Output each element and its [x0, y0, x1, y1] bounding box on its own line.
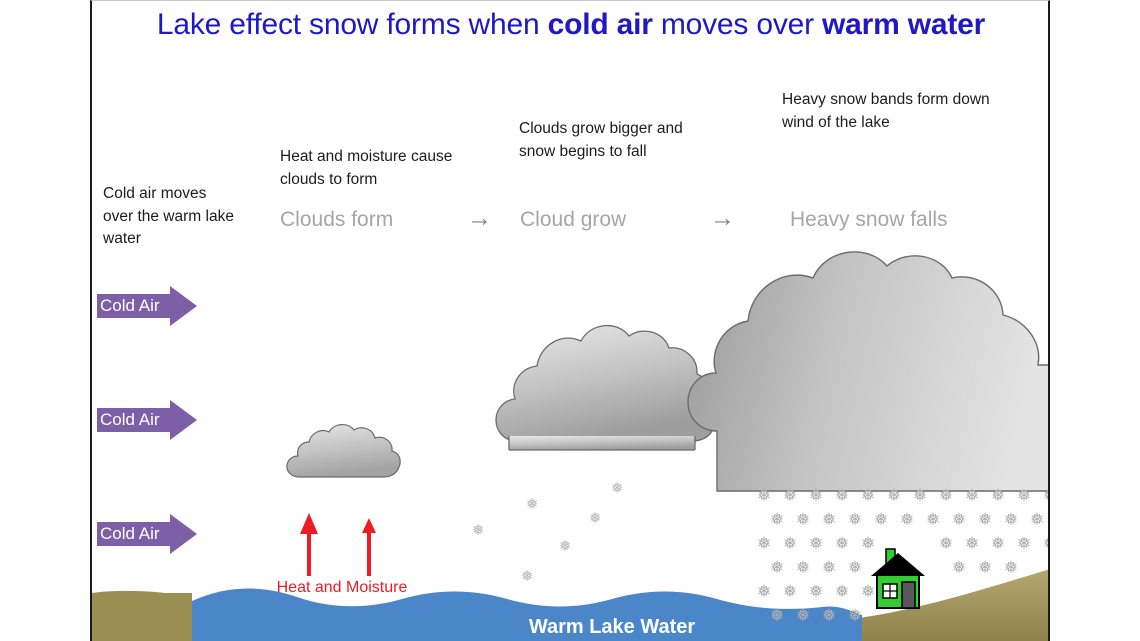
- snowflake-icon: ❅: [861, 582, 875, 602]
- snowflake-icon: ❅: [809, 486, 823, 506]
- snowflake-icon: ❅: [783, 486, 797, 506]
- snowflake-icon: ❅: [952, 510, 966, 530]
- snowflake-icon: ❅: [835, 582, 849, 602]
- snowflake-icon: ❅: [757, 486, 771, 506]
- snowflake-icon: ❅: [1004, 510, 1018, 530]
- slide-canvas: Lake effect snow forms when cold air mov…: [90, 0, 1050, 641]
- small-cloud: [287, 425, 400, 477]
- snowflake-icon: ❅: [835, 486, 849, 506]
- description-cold-air: Cold air moves over the warm lake water: [103, 183, 238, 251]
- snowflake-icon: ❅: [1017, 534, 1031, 554]
- heat-and-moisture-label: Heat and Moisture: [242, 579, 442, 597]
- snowflake-icon: ❅: [848, 558, 862, 578]
- svg-text:❅: ❅: [521, 567, 534, 585]
- snowflake-icon: ❅: [1017, 486, 1031, 506]
- snowflake-icon: ❅: [809, 582, 823, 602]
- snowflake-icon: ❅: [1030, 510, 1044, 530]
- snowflake-icon: ❅: [926, 510, 940, 530]
- description-clouds-grow: Clouds grow bigger and snow begins to fa…: [519, 118, 694, 163]
- snowflake-icon: ❅: [757, 582, 771, 602]
- svg-text:❅: ❅: [472, 521, 485, 539]
- snowflake-icon: ❅: [1043, 534, 1050, 554]
- snowflake-icon: ❅: [822, 510, 836, 530]
- snowflake-icon: ❅: [939, 534, 953, 554]
- svg-text:❅: ❅: [611, 479, 624, 497]
- cold-air-label-1: Cold Air: [100, 294, 174, 318]
- snowflake-icon: ❅: [861, 486, 875, 506]
- stage-arrow-right-icon-2: →: [710, 205, 735, 231]
- snowflake-icon: ❅: [913, 486, 927, 506]
- svg-text:❅: ❅: [589, 509, 602, 527]
- description-clouds-form: Heat and moisture cause clouds to form: [280, 146, 470, 191]
- snowflake-icon: ❅: [861, 534, 875, 554]
- snowflake-icon: ❅: [822, 558, 836, 578]
- snowflake-icon: ❅: [965, 534, 979, 554]
- snowflake-icon: ❅: [796, 558, 810, 578]
- snowflake-icon: ❅: [770, 510, 784, 530]
- snowflake-icon: ❅: [835, 534, 849, 554]
- snowflake-icon: ❅: [978, 510, 992, 530]
- medium-cloud: [496, 326, 715, 450]
- stage-label-heavy-snow-falls: Heavy snow falls: [790, 207, 948, 233]
- left-shore-slope: [92, 591, 192, 641]
- warm-lake-water-label: Warm Lake Water: [332, 616, 892, 639]
- snowflake-icon: ❅: [900, 510, 914, 530]
- cold-air-arrow-2: Cold Air: [94, 400, 198, 440]
- snowflake-icon: ❅: [952, 558, 966, 578]
- snowflake-icon: ❅: [809, 534, 823, 554]
- cold-air-arrow-3: Cold Air: [94, 514, 198, 554]
- snowflake-icon: ❅: [874, 510, 888, 530]
- snowflake-icon: ❅: [887, 486, 901, 506]
- stage-label-clouds-form: Clouds form: [280, 207, 393, 233]
- stage-label-cloud-grow: Cloud grow: [520, 207, 626, 233]
- snowflake-icon: ❅: [991, 534, 1005, 554]
- large-cloud: [688, 252, 1050, 491]
- snowflake-icon: ❅: [848, 510, 862, 530]
- snowflake-icon: ❅: [757, 534, 771, 554]
- snowflake-icon: ❅: [770, 558, 784, 578]
- snowflake-icon: ❅: [783, 534, 797, 554]
- snowflake-icon: ❅: [783, 582, 797, 602]
- snowflake-icon: ❅: [939, 486, 953, 506]
- cold-air-arrow-1: Cold Air: [94, 286, 198, 326]
- snowflake-icon: ❅: [1043, 486, 1050, 506]
- heat-moisture-arrows: [302, 518, 376, 576]
- snowflake-icon: ❅: [796, 510, 810, 530]
- snowflake-icon: ❅: [965, 486, 979, 506]
- svg-text:❅: ❅: [559, 537, 572, 555]
- snowflake-icon: ❅: [991, 486, 1005, 506]
- cold-air-label-3: Cold Air: [100, 522, 174, 546]
- light-snow-field: ❅ ❅ ❅ ❅ ❅ ❅: [472, 479, 624, 585]
- description-snow-bands: Heavy snow bands form down wind of the l…: [782, 89, 997, 134]
- house-icon: [871, 549, 925, 608]
- snowflake-icon: ❅: [978, 558, 992, 578]
- stage-arrow-right-icon: →: [467, 205, 492, 231]
- snowflake-icon: ❅: [1004, 558, 1018, 578]
- svg-text:❅: ❅: [526, 495, 539, 513]
- cold-air-label-2: Cold Air: [100, 408, 174, 432]
